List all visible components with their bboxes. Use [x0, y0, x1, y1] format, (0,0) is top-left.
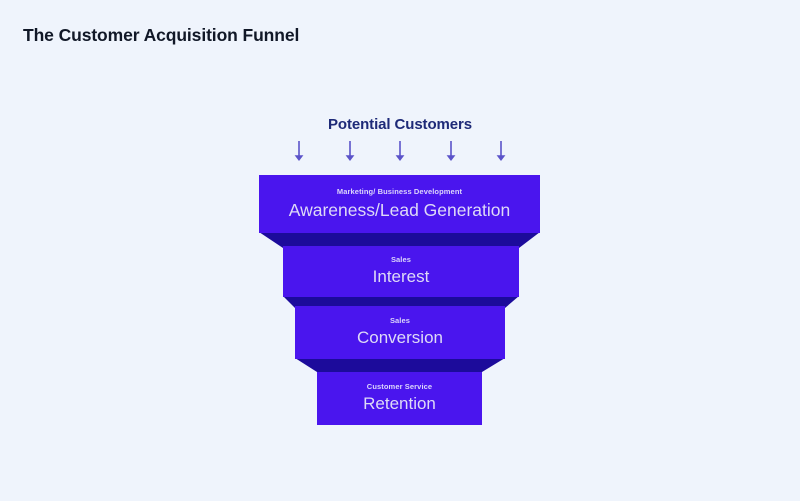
funnel-diagram: Potential Customers Mar	[0, 0, 800, 501]
funnel-stage-4[interactable]: Customer Service Retention	[317, 372, 482, 425]
funnel-stage-2[interactable]: Sales Interest	[283, 246, 519, 297]
funnel-stage-sublabel: Sales	[391, 256, 411, 264]
funnel-stage-title: Awareness/Lead Generation	[289, 200, 511, 220]
funnel-stage-title: Conversion	[357, 328, 443, 348]
funnel-stage-1[interactable]: Marketing/ Business Development Awarenes…	[259, 175, 540, 233]
funnel-stage-sublabel: Sales	[390, 317, 410, 325]
funnel-stage-sublabel: Marketing/ Business Development	[337, 188, 462, 196]
funnel-stage-3[interactable]: Sales Conversion	[295, 306, 505, 359]
funnel-stages: Marketing/ Business Development Awarenes…	[0, 0, 800, 501]
funnel-stage-title: Interest	[373, 267, 430, 287]
funnel-stage-title: Retention	[363, 394, 436, 414]
funnel-connector-3	[295, 358, 505, 372]
funnel-stage-sublabel: Customer Service	[367, 383, 432, 391]
